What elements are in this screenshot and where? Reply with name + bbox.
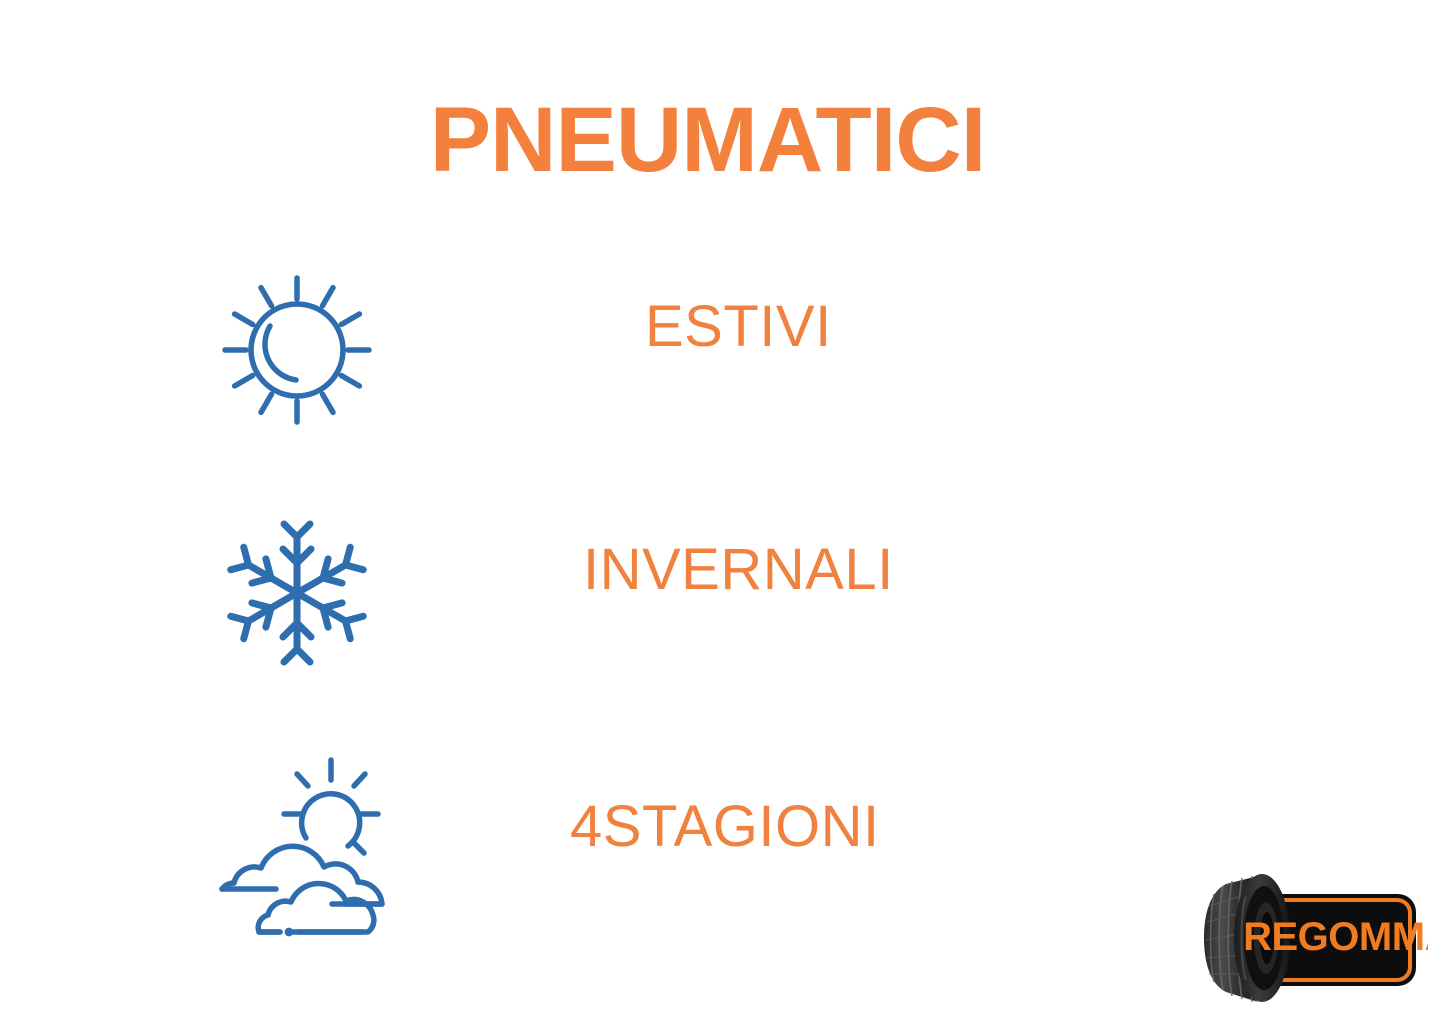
season-row-invernali: INVERNALI xyxy=(0,495,1445,695)
regomma-logo[interactable]: REGOMMA xyxy=(1196,862,1428,1014)
sun-icon xyxy=(196,252,406,452)
season-label-estivi: ESTIVI xyxy=(645,298,832,356)
season-row-estivi: ESTIVI xyxy=(0,252,1445,452)
page-title: PNEUMATICI xyxy=(0,94,1445,186)
logo-wordmark: REGOMMA xyxy=(1243,915,1428,959)
poster-canvas: PNEUMATICI xyxy=(0,0,1445,1022)
snowflake-icon xyxy=(196,495,406,695)
sun-behind-clouds-icon xyxy=(196,752,406,952)
season-label-invernali: INVERNALI xyxy=(583,541,894,599)
season-label-4stagioni: 4STAGIONI xyxy=(570,798,880,856)
